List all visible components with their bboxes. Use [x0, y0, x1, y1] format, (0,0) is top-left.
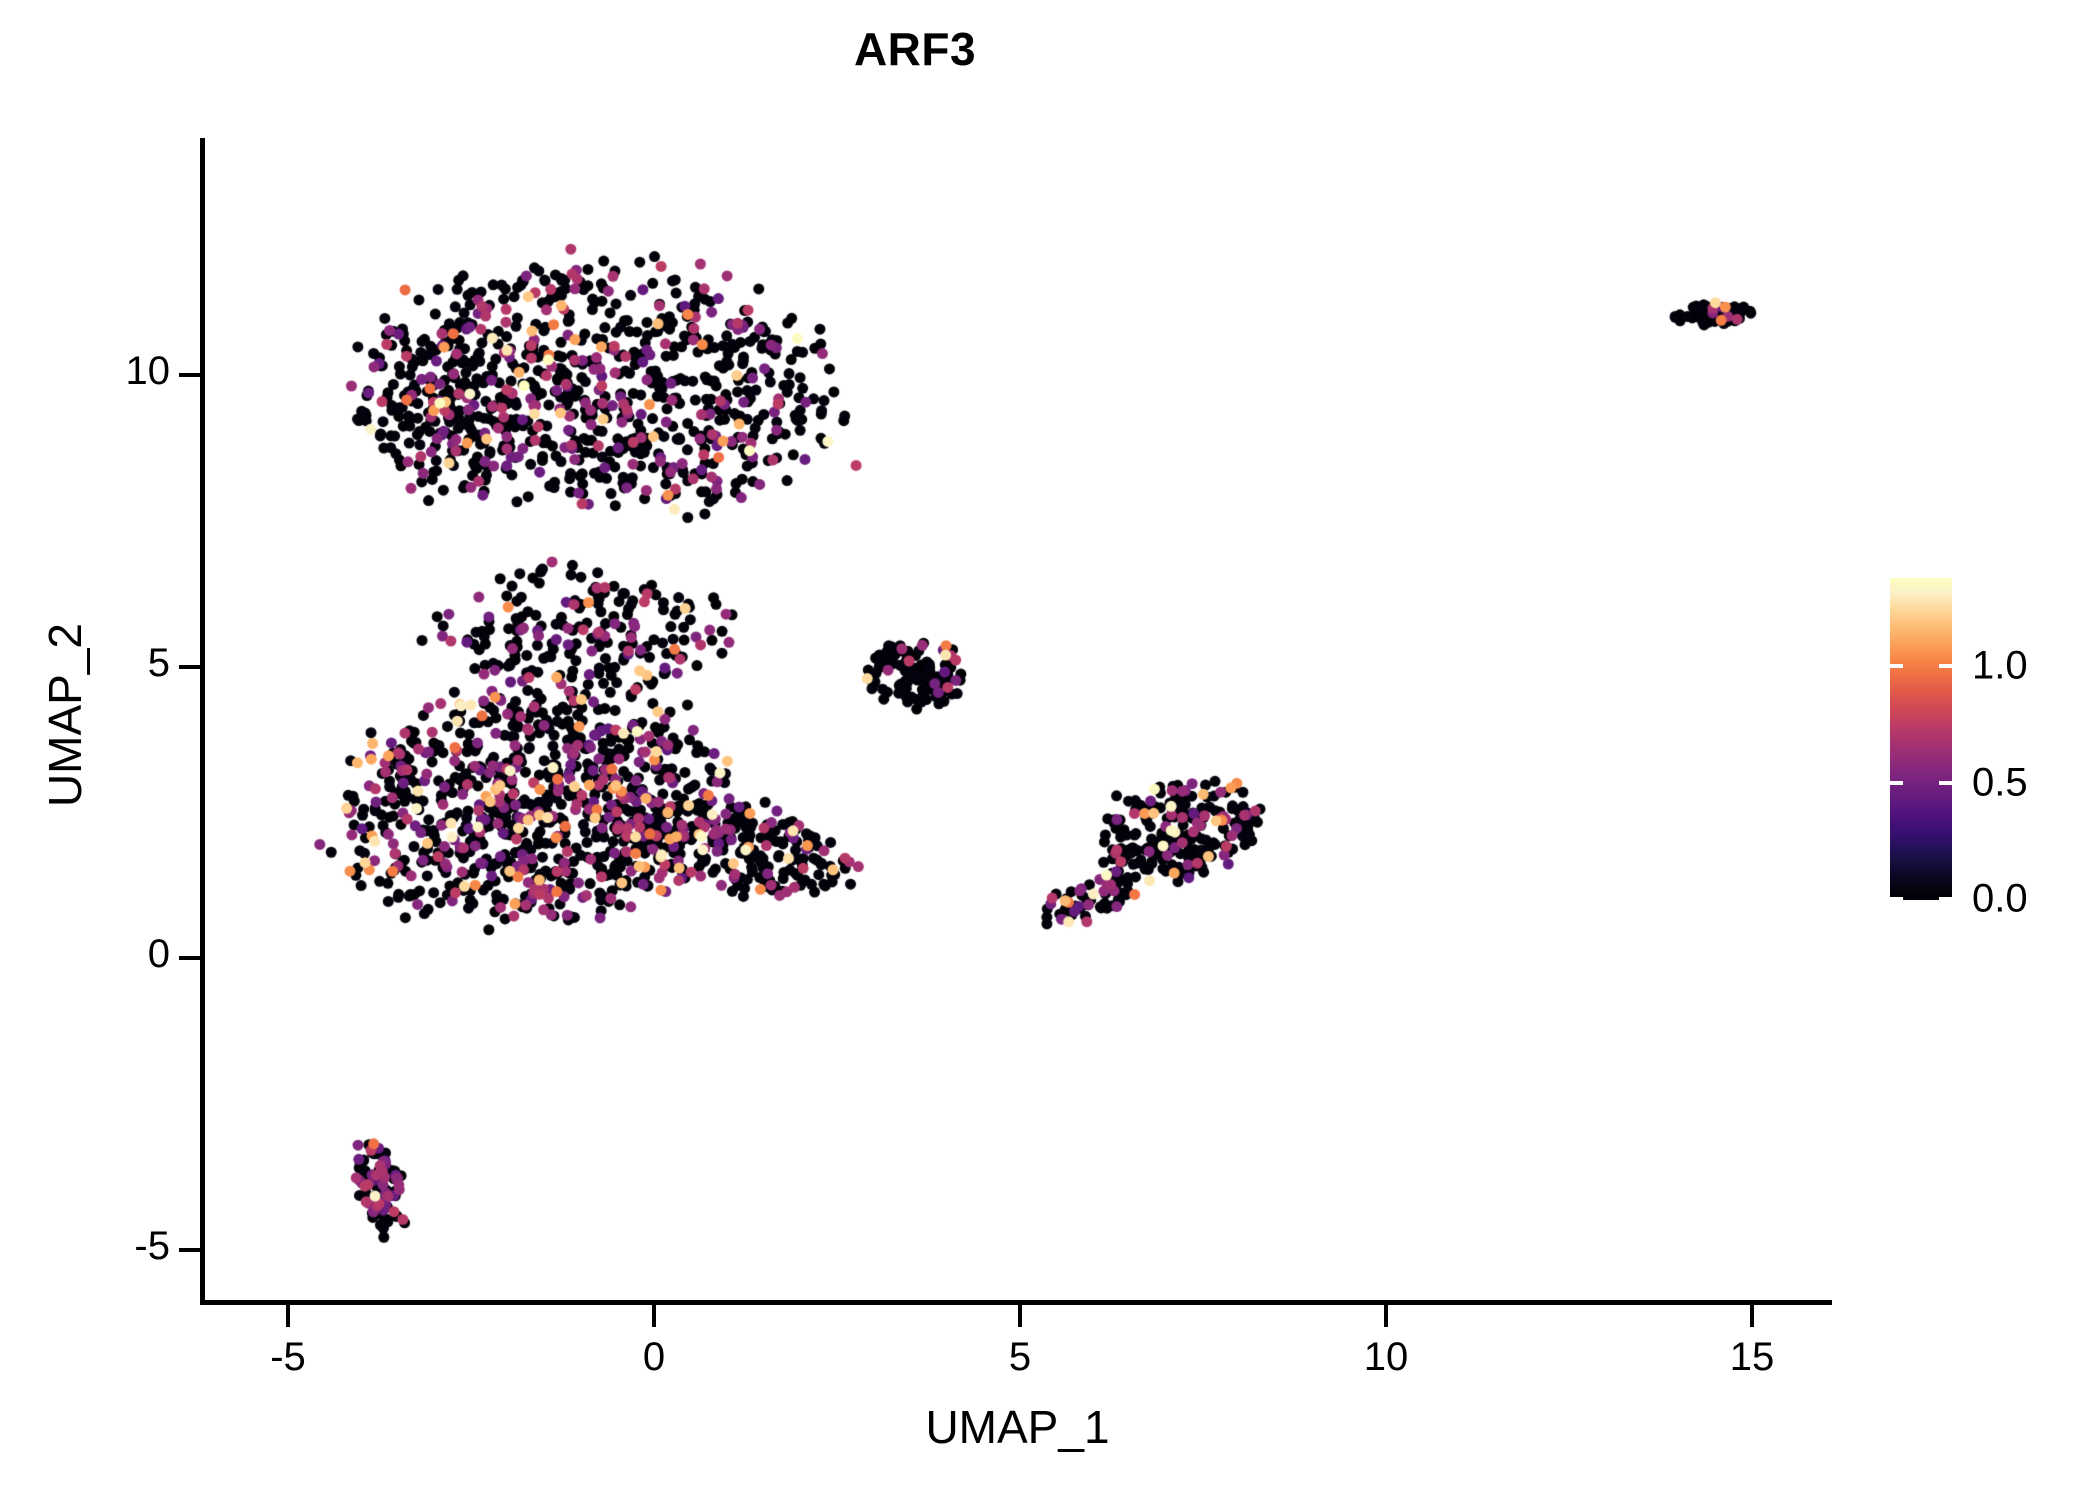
x-tick-mark: [1750, 1305, 1754, 1327]
x-tick-mark: [652, 1305, 656, 1327]
colorbar-tick-label: 0.5: [1972, 760, 2028, 805]
colorbar-gradient: [1890, 578, 1952, 900]
y-axis-line: [200, 138, 205, 1305]
colorbar-tick-mark: [1939, 897, 1952, 901]
y-tick-label: -5: [10, 1224, 170, 1269]
y-axis-label: UMAP_2: [38, 415, 92, 1015]
x-axis-label: UMAP_1: [205, 1400, 1830, 1454]
x-tick-label: -5: [208, 1335, 368, 1380]
colorbar-tick-label: 1.0: [1972, 644, 2028, 689]
page-title: ARF3: [0, 22, 1830, 76]
x-axis-line: [200, 1300, 1832, 1305]
plot-panel: [205, 141, 1830, 1302]
colorbar-tick-mark: [1890, 897, 1903, 901]
y-tick-mark: [179, 665, 201, 669]
y-tick-mark: [179, 373, 201, 377]
scatter-points-layer: [205, 141, 1830, 1302]
x-tick-label: 15: [1672, 1335, 1832, 1380]
colorbar-tick-mark: [1890, 781, 1903, 785]
y-tick-label: 10: [10, 349, 170, 394]
colorbar-tick-label: 0.0: [1972, 877, 2028, 922]
x-tick-mark: [1018, 1305, 1022, 1327]
colorbar-tick-mark: [1939, 664, 1952, 668]
x-tick-mark: [1384, 1305, 1388, 1327]
y-tick-mark: [179, 1248, 201, 1252]
x-tick-label: 10: [1306, 1335, 1466, 1380]
x-tick-label: 5: [940, 1335, 1100, 1380]
x-tick-label: 0: [574, 1335, 734, 1380]
x-tick-mark: [286, 1305, 290, 1327]
colorbar-legend: 0.00.51.0: [1890, 578, 2090, 903]
colorbar-tick-mark: [1890, 664, 1903, 668]
umap-feature-plot: ARF3 -50510 -5051015 UMAP_1 UMAP_2 0.00.…: [0, 0, 2100, 1500]
y-tick-mark: [179, 956, 201, 960]
colorbar-tick-mark: [1939, 781, 1952, 785]
